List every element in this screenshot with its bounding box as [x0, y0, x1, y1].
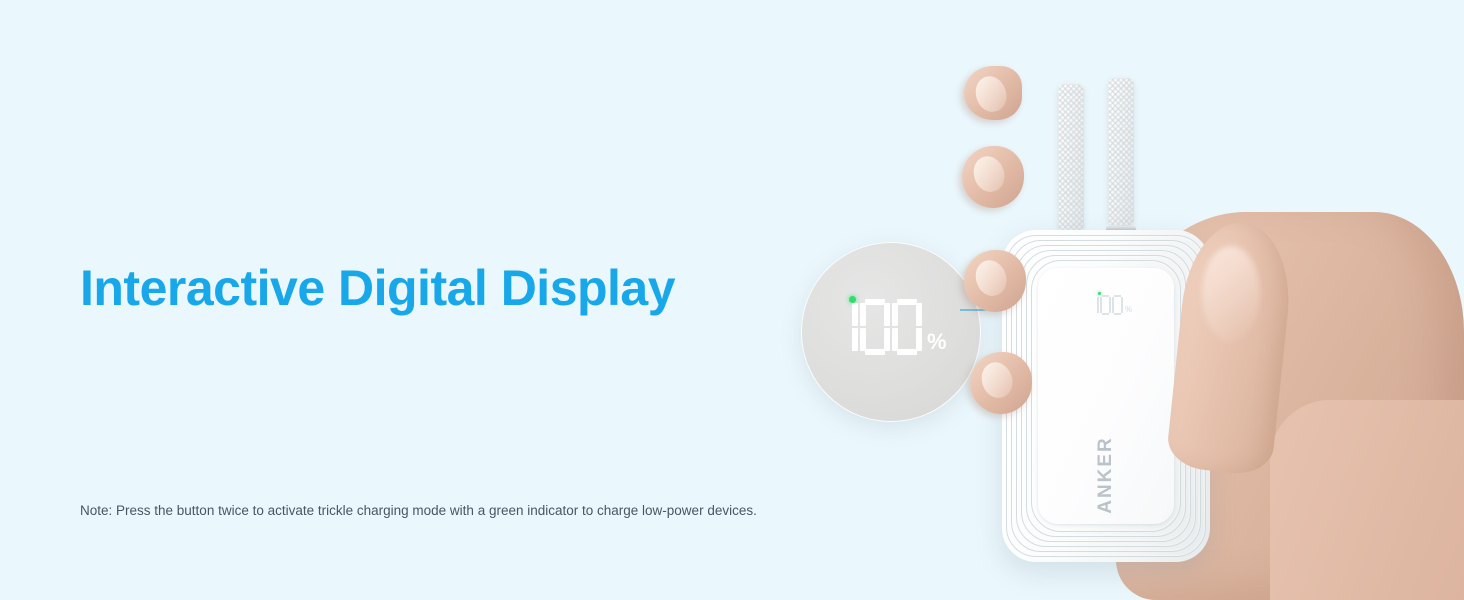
device-battery-readout: % [1094, 295, 1132, 315]
page-title: Interactive Digital Display [80, 262, 675, 315]
device-front-panel: % ANKER [1038, 268, 1174, 524]
fingertip-index [964, 66, 1022, 120]
device-digit-0b [1112, 295, 1123, 315]
device-digit-0a [1100, 295, 1111, 315]
device-digit-1 [1094, 295, 1099, 315]
cable-braid [1108, 78, 1134, 226]
hand-holding-power-bank: % ANKER [940, 0, 1464, 600]
fingernail [971, 256, 1011, 300]
seven-segment-digit-1 [846, 299, 858, 355]
footnote-text: Note: Press the button twice to activate… [80, 501, 770, 522]
seven-segment-digit-0b [892, 299, 922, 355]
fingertip-pinky [970, 352, 1032, 414]
fingernail [971, 72, 1011, 116]
fingertip-middle [962, 146, 1024, 208]
fingernail [977, 358, 1017, 402]
fingertip-ring [964, 250, 1026, 312]
device-percent-symbol: % [1125, 305, 1132, 314]
seven-segment-digit-0a [860, 299, 890, 355]
marketing-banner: Interactive Digital Display Note: Press … [0, 0, 1464, 600]
anker-brand-logo: ANKER [1095, 436, 1117, 514]
cable-braid [1058, 84, 1084, 232]
magnified-battery-readout: % [846, 299, 947, 355]
fingernail [969, 152, 1009, 196]
wrist [1270, 400, 1464, 600]
thumb-highlight [1202, 246, 1260, 342]
